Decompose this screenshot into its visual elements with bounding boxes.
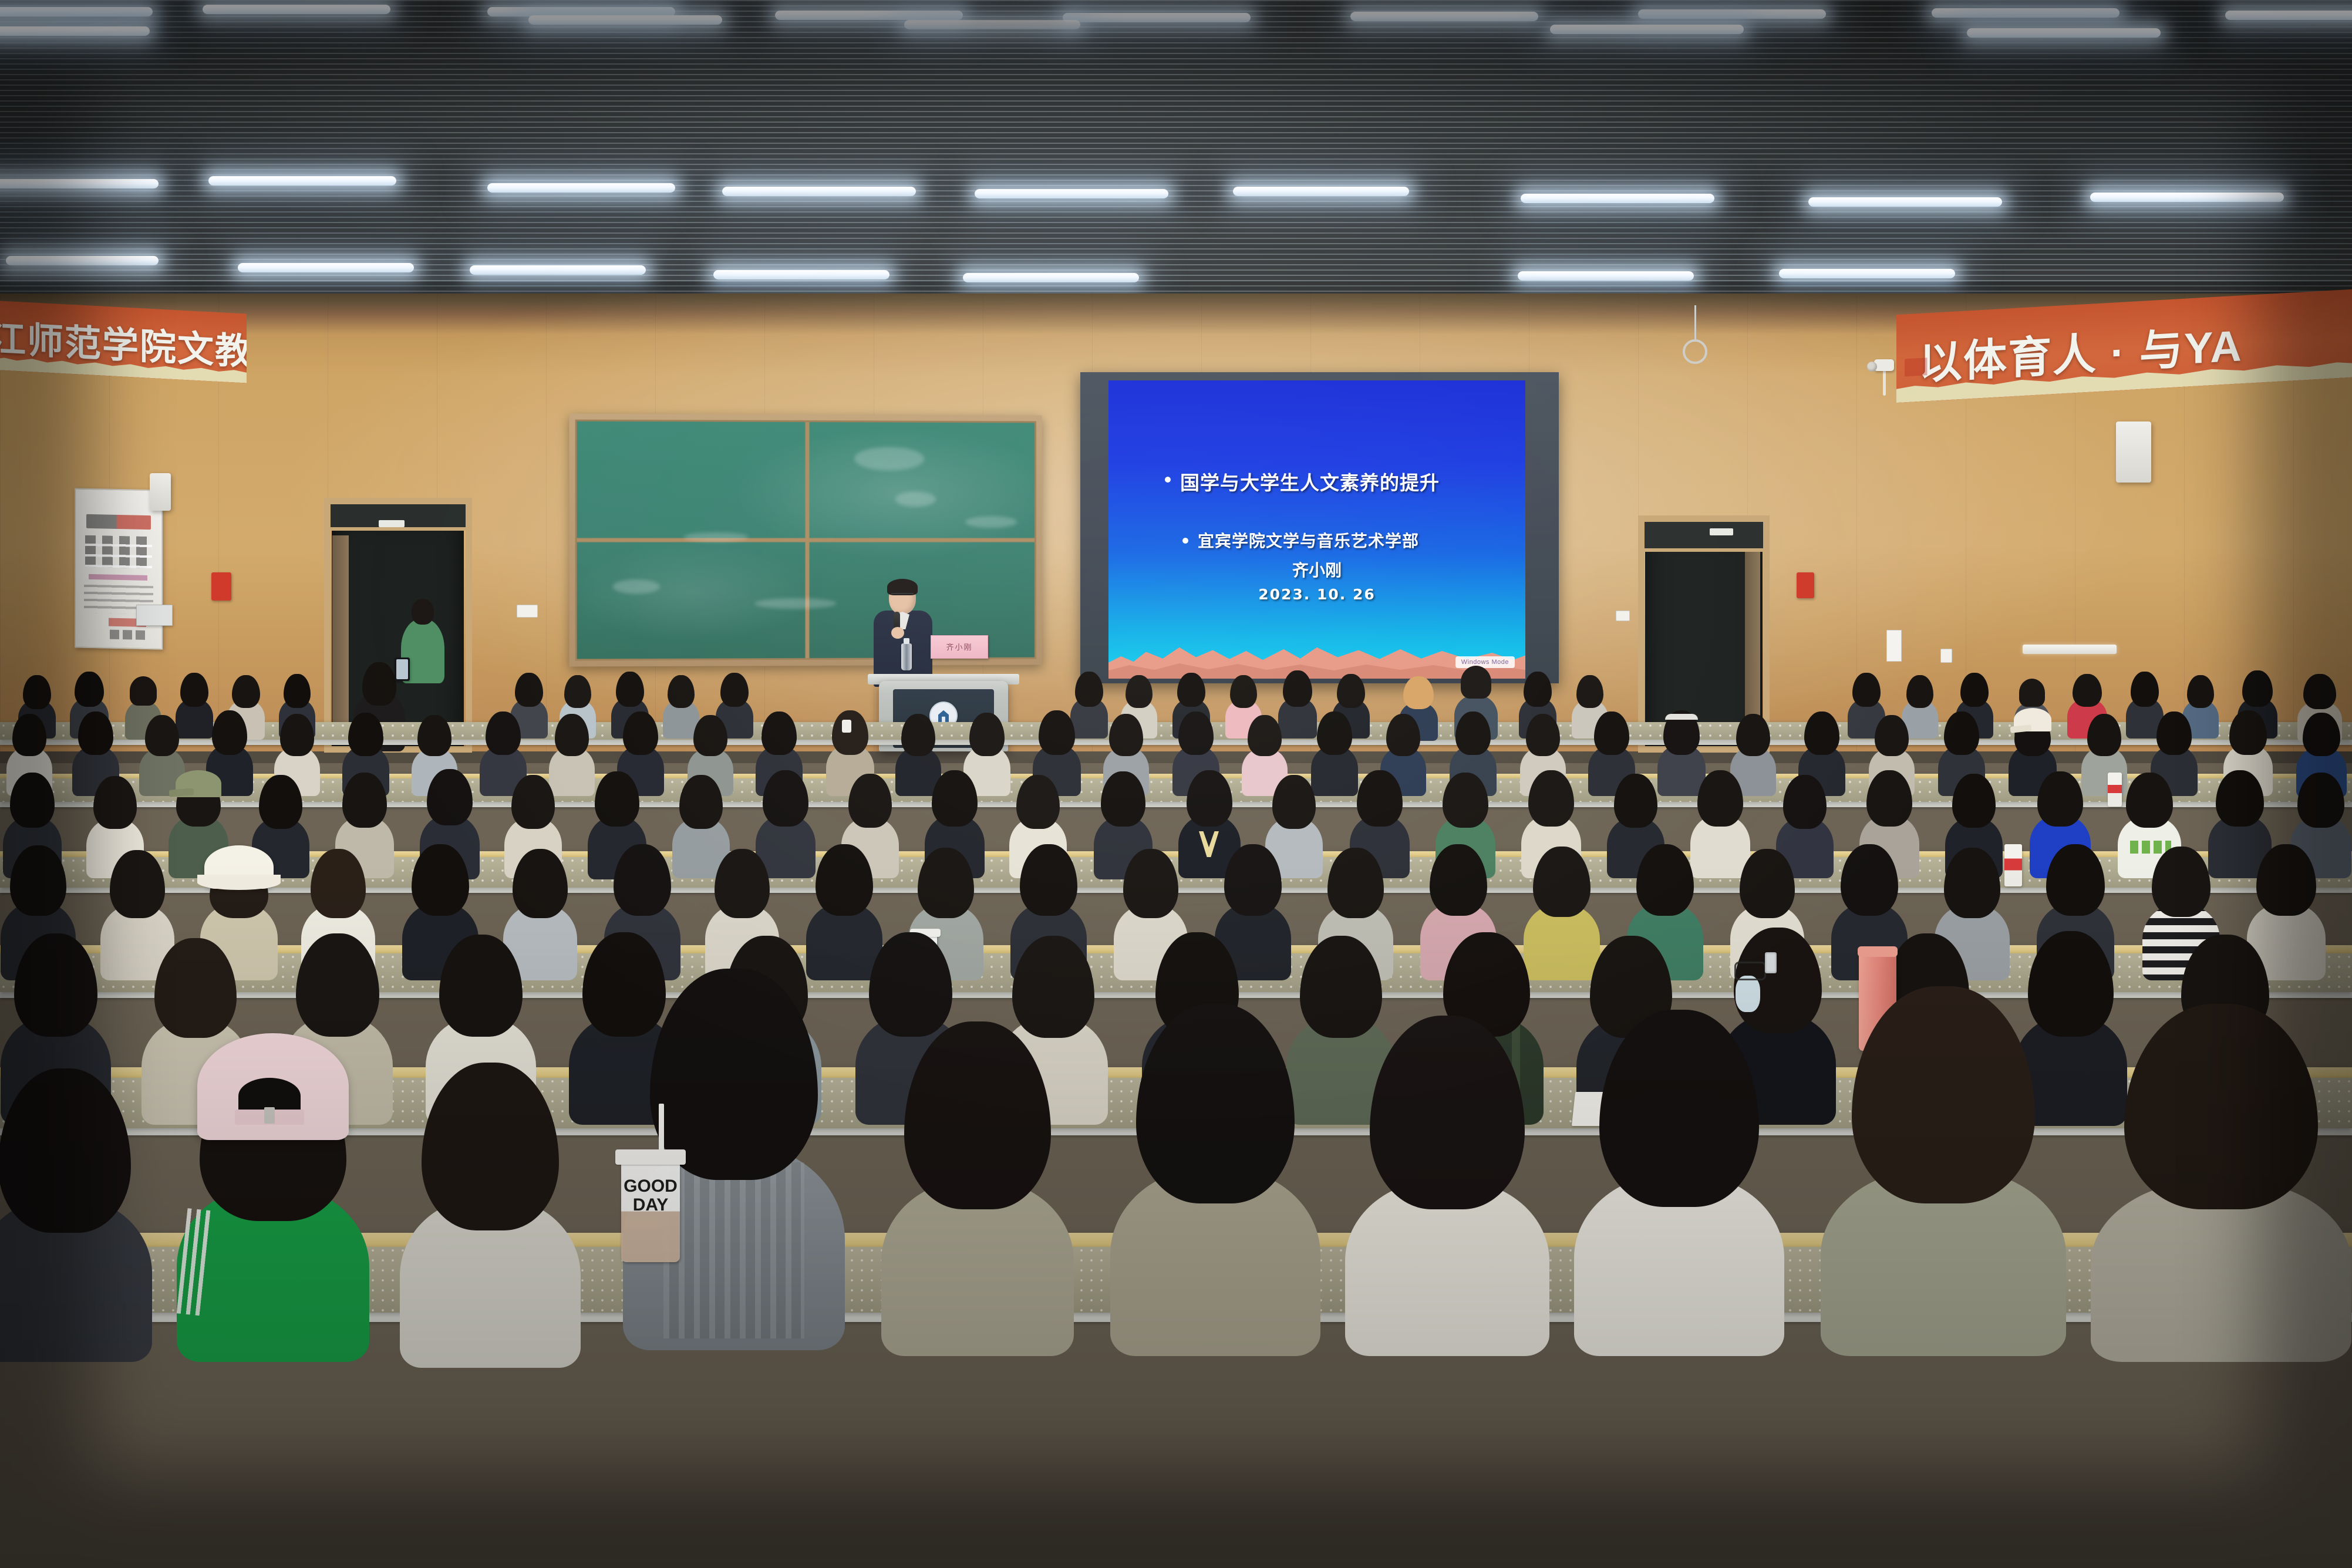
person-hair xyxy=(2229,710,2267,755)
slide-bullet-1: 国学与大学生人文素养的提升 xyxy=(1165,467,1440,495)
person-hair xyxy=(1386,714,1420,756)
hair-clip xyxy=(1765,952,1777,973)
person-hair xyxy=(1576,675,1603,708)
ceiling-light-tube xyxy=(203,5,390,14)
person-hair xyxy=(616,672,644,707)
person-hair xyxy=(515,673,543,707)
person-hair xyxy=(417,715,451,756)
ceiling-light-tube xyxy=(1932,8,2120,18)
person-hair xyxy=(2073,674,2102,707)
person-hair xyxy=(2152,847,2211,917)
ceiling-shading xyxy=(0,0,2352,305)
thermos-cap xyxy=(1858,946,1898,957)
cup-brand-line-1: GOOD xyxy=(621,1178,680,1196)
person-hair xyxy=(1455,711,1491,755)
person-hair xyxy=(2242,670,2273,707)
audience-member-foreground-right xyxy=(2090,1004,2352,1356)
person-head xyxy=(412,599,434,625)
person-hair xyxy=(1136,1004,1295,1203)
person-hair xyxy=(595,771,639,827)
person-hair xyxy=(918,848,974,918)
person-hair xyxy=(280,714,314,756)
person-hair xyxy=(1944,848,2000,918)
ceiling-light-tube xyxy=(963,273,1139,282)
chalkboard xyxy=(575,420,1036,661)
person-hair xyxy=(1960,673,1989,707)
person-hair xyxy=(145,715,179,756)
person-hair xyxy=(1101,771,1145,827)
person-hair xyxy=(422,1063,559,1230)
person-hair xyxy=(486,711,521,755)
person-hair xyxy=(1020,844,1077,916)
person-hair xyxy=(1430,844,1487,916)
person-hair xyxy=(259,775,302,829)
glasses-icon xyxy=(891,593,914,599)
person-hair xyxy=(511,775,555,829)
ceiling-light-tube xyxy=(722,187,916,196)
lecture-hall-photo: 江师范学院文教志愿者培训班开学典礼 以体育人 · 与YA xyxy=(0,0,2352,1568)
person-hair xyxy=(2216,770,2264,827)
camera-lens-icon xyxy=(1867,362,1877,372)
person-hair xyxy=(180,673,208,707)
cable-coil xyxy=(1683,339,1707,364)
ceiling-light-tube xyxy=(1518,271,1694,281)
person-hair xyxy=(1016,775,1060,829)
person-hair xyxy=(901,714,935,756)
person-hair xyxy=(1370,1016,1525,1209)
person-hair xyxy=(439,935,523,1037)
audience-member-foreground xyxy=(1345,1016,1550,1350)
ceiling-light-tube xyxy=(1350,12,1538,21)
person-hair xyxy=(284,674,311,708)
person-hair xyxy=(1461,666,1491,699)
bullet-dot-icon xyxy=(1182,538,1188,544)
audience-member-foreground xyxy=(399,1063,581,1344)
chalk-smudge xyxy=(683,532,749,542)
person-hair xyxy=(614,844,671,916)
person-hair xyxy=(1636,844,1694,916)
person-hair xyxy=(348,713,383,756)
person-hair xyxy=(904,1021,1051,1209)
ceiling-light-tube xyxy=(0,179,159,188)
person-hair xyxy=(10,773,55,828)
ceiling-light-tube xyxy=(487,183,675,193)
person-hair xyxy=(1177,673,1205,707)
hanging-cable xyxy=(1694,305,1696,340)
ceiling-light-tube xyxy=(0,7,153,16)
person-hair xyxy=(1866,770,1912,827)
person-hair xyxy=(1875,715,1909,756)
ceiling-light-tube xyxy=(1638,9,1826,19)
person-hair xyxy=(1804,711,1839,755)
person-hair xyxy=(1526,714,1560,756)
slide-bullet-2-text: 宜宾学院文学与音乐艺术学部 xyxy=(1198,528,1419,552)
sweater-cable-knit-texture xyxy=(663,1162,804,1338)
ceiling-light-tube xyxy=(775,11,963,20)
person-hair xyxy=(932,770,978,827)
chalk-smudge xyxy=(612,579,660,594)
person-hair xyxy=(1740,849,1795,918)
person-hair xyxy=(1337,674,1365,708)
slide-date: 2023. 10. 26 xyxy=(1108,586,1525,603)
light-switch[interactable] xyxy=(1616,611,1630,621)
ceiling-light-tube xyxy=(904,20,1080,29)
person-hair xyxy=(130,676,157,706)
person-hair xyxy=(555,714,589,756)
hair-clip xyxy=(842,720,851,733)
ceiling-light-tube xyxy=(2225,11,2352,20)
person-hair xyxy=(1272,775,1316,829)
person-hair xyxy=(720,673,749,707)
slide-author-name: 齐小刚 xyxy=(1108,558,1525,581)
person-hair xyxy=(1852,673,1881,707)
person-hair xyxy=(1224,844,1282,916)
cup-lid xyxy=(615,1149,686,1165)
person-hair xyxy=(1594,711,1629,755)
person-hair xyxy=(2126,773,2173,828)
person-hair xyxy=(1841,844,1898,916)
person-hair xyxy=(2037,771,2083,827)
milk-tea-cup: GOOD DAY xyxy=(621,1156,680,1262)
ceiling-light-tube xyxy=(975,189,1168,198)
chalk-smudge xyxy=(965,516,1017,528)
person-hair xyxy=(212,710,247,755)
audience-member-foreground-right xyxy=(1820,986,2067,1350)
person-hair xyxy=(693,715,727,756)
person-hair xyxy=(832,710,868,755)
ceiling-light-tube xyxy=(1063,13,1251,22)
headphone-band-icon xyxy=(1665,714,1698,720)
audience-member-pink-cap xyxy=(176,1033,370,1350)
person-hair xyxy=(650,969,818,1180)
ceiling-light-tube xyxy=(1550,25,1744,34)
person-hair xyxy=(1178,711,1214,755)
person-hair xyxy=(1736,714,1770,756)
light-switch[interactable] xyxy=(517,605,538,618)
ceiling-light-tube xyxy=(1521,194,1714,203)
person-hair xyxy=(1599,1010,1759,1207)
audience-seating-area: GOOD DAY xyxy=(0,657,2352,1568)
person-hair xyxy=(2156,711,2192,755)
person-hair xyxy=(0,1068,131,1233)
person-hair xyxy=(1357,770,1403,827)
ceiling-light-tube xyxy=(6,256,159,265)
person-hair xyxy=(763,770,808,827)
glasses-icon xyxy=(1734,962,1766,980)
chalk-smudge xyxy=(754,598,837,609)
person-hair xyxy=(623,711,658,755)
person-hair xyxy=(1109,714,1143,756)
person-hair xyxy=(2046,844,2105,916)
person-hair xyxy=(1317,711,1352,755)
wall-notice-sign xyxy=(1886,630,1902,662)
person-hair xyxy=(412,844,469,916)
wall-speaker xyxy=(2116,421,2151,483)
person-hair xyxy=(1952,774,1996,828)
person-hair xyxy=(2087,714,2121,756)
person-hair xyxy=(1528,770,1574,827)
speaker-name-card: 齐小刚 xyxy=(931,635,988,659)
person-hair-blonde xyxy=(1403,676,1434,709)
person-hair xyxy=(110,850,165,918)
person-hair xyxy=(2303,674,2336,709)
person-hair xyxy=(12,714,46,756)
poster-title-block xyxy=(86,514,151,530)
person-hair xyxy=(23,675,51,709)
ceiling-light-tube xyxy=(208,176,396,186)
ceiling-light-tube xyxy=(238,263,414,272)
speaker-hand xyxy=(891,627,904,639)
cup-brand-line-2: DAY xyxy=(621,1196,680,1215)
cap-strap-buckle xyxy=(264,1107,275,1124)
person-hair xyxy=(2303,713,2340,756)
ceiling-light-tube xyxy=(1967,28,2161,38)
ceiling-light-tube xyxy=(2090,193,2284,202)
person-hair xyxy=(1283,670,1312,707)
fire-alarm-box xyxy=(1797,572,1814,598)
person-hair xyxy=(154,938,237,1038)
person-hair xyxy=(1126,675,1153,708)
face-mask xyxy=(1736,976,1760,1012)
person-hair xyxy=(2187,675,2214,708)
person-hair xyxy=(1783,775,1827,829)
speaker-name-card-text: 齐小刚 xyxy=(931,641,988,652)
person-hair xyxy=(513,849,568,918)
presentation-slide: 国学与大学生人文素养的提升 宜宾学院文学与音乐艺术学部 齐小刚 2023. 10… xyxy=(1108,380,1525,679)
slide-bullet-2: 宜宾学院文学与音乐艺术学部 xyxy=(1182,528,1419,552)
poster-grid-rows xyxy=(85,535,152,568)
person-hair xyxy=(668,675,695,708)
chalkboard-frame xyxy=(570,413,1042,666)
person-hair xyxy=(1614,774,1657,828)
person-hair xyxy=(1852,986,2035,1203)
banner-logo xyxy=(1905,356,1959,376)
person-hair xyxy=(1039,710,1075,755)
person-hair xyxy=(1906,675,1933,708)
person-hair xyxy=(816,844,873,916)
bullet-dot-icon xyxy=(1165,477,1171,483)
poster-subtitle-block xyxy=(89,574,147,581)
audience-member-foreground xyxy=(0,1068,153,1344)
person-hair xyxy=(1075,672,1103,707)
person-hair xyxy=(232,675,260,708)
person-hair xyxy=(2256,844,2316,916)
chalk-smudge xyxy=(895,491,935,507)
ceiling-light-tube xyxy=(713,270,889,279)
person-hair xyxy=(296,933,379,1037)
person-hair xyxy=(1187,770,1232,827)
person-hair xyxy=(311,849,366,918)
person-hair xyxy=(564,675,591,708)
led-strip-light xyxy=(2023,645,2117,654)
person-hair xyxy=(2124,1004,2318,1209)
ceiling-light-tube xyxy=(1233,187,1409,196)
person-hair xyxy=(1524,672,1552,707)
person-hair xyxy=(78,711,113,755)
wall-speaker xyxy=(150,473,171,511)
person-hair xyxy=(1248,715,1282,756)
person-hair xyxy=(14,933,97,1037)
security-camera xyxy=(1874,359,1894,371)
banner-left: 江师范学院文教志愿者培训班开学典礼 xyxy=(0,301,247,383)
person-hair xyxy=(1327,848,1384,918)
person-hair xyxy=(1533,847,1591,917)
person-hair xyxy=(1443,773,1488,828)
person-hair xyxy=(1944,711,1979,755)
fire-alarm-box xyxy=(211,572,231,601)
person-hair xyxy=(1123,849,1178,918)
chalkboard-horizontal-divider xyxy=(577,538,1035,542)
person-hair xyxy=(1697,770,1743,827)
person-hair xyxy=(715,849,770,918)
person-hair xyxy=(848,774,892,828)
person-hair xyxy=(969,713,1005,756)
bucket-hat-brim xyxy=(197,875,281,890)
person-hair xyxy=(427,769,473,825)
wall-utility-box xyxy=(136,605,173,626)
person-hair xyxy=(10,845,66,916)
person-hair xyxy=(2131,672,2159,707)
person-hair xyxy=(679,775,723,829)
audience-member-foreground xyxy=(881,1021,1074,1350)
person-hair xyxy=(342,773,387,828)
slide-bullet-1-text: 国学与大学生人文素养的提升 xyxy=(1180,467,1440,495)
person-hair xyxy=(1230,675,1257,708)
ceiling-light-tube xyxy=(470,265,646,275)
person-hair xyxy=(761,711,797,755)
audience-member-foreground xyxy=(1573,1010,1785,1350)
person-hair xyxy=(2297,773,2344,828)
audience-member-foreground xyxy=(1110,1004,1321,1350)
ceiling-light-tube xyxy=(1779,269,1955,278)
person-hair xyxy=(93,776,137,829)
poster-icon-row xyxy=(110,630,147,640)
person-hair xyxy=(75,672,104,707)
ceiling-light-tube xyxy=(1808,197,2002,207)
ceiling-light-tube xyxy=(528,15,722,25)
ceiling-light-tube xyxy=(0,26,150,36)
camera-mount-arm xyxy=(1883,369,1886,396)
chalk-smudge xyxy=(854,447,924,470)
person-hair xyxy=(2019,679,2045,707)
